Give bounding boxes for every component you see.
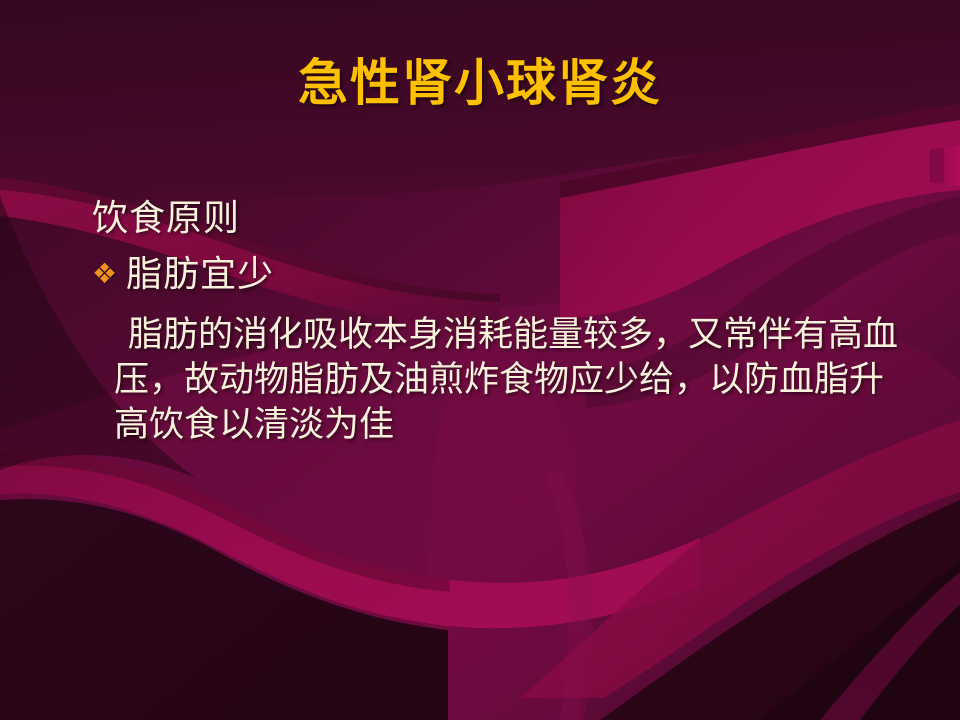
diamond-bullet-icon: ❖ [92,260,118,288]
slide-title: 急性肾小球肾炎 [0,56,960,111]
bullet-item-label: 脂肪宜少 [126,254,274,296]
body-paragraph: 脂肪的消化吸收本身消耗能量较多，又常伴有高血压，故动物脂肪及油煎炸食物应少给，以… [92,313,904,447]
slide-content-layer: 急性肾小球肾炎 饮食原则 ❖ 脂肪宜少 脂肪的消化吸收本身消耗能量较多，又常伴有… [0,0,960,720]
bullet-item: ❖ 脂肪宜少 [92,254,932,296]
section-heading: 饮食原则 [92,198,932,240]
slide-body: 饮食原则 ❖ 脂肪宜少 脂肪的消化吸收本身消耗能量较多，又常伴有高血压，故动物脂… [92,198,932,447]
presentation-slide: 急性肾小球肾炎 饮食原则 ❖ 脂肪宜少 脂肪的消化吸收本身消耗能量较多，又常伴有… [0,0,960,720]
